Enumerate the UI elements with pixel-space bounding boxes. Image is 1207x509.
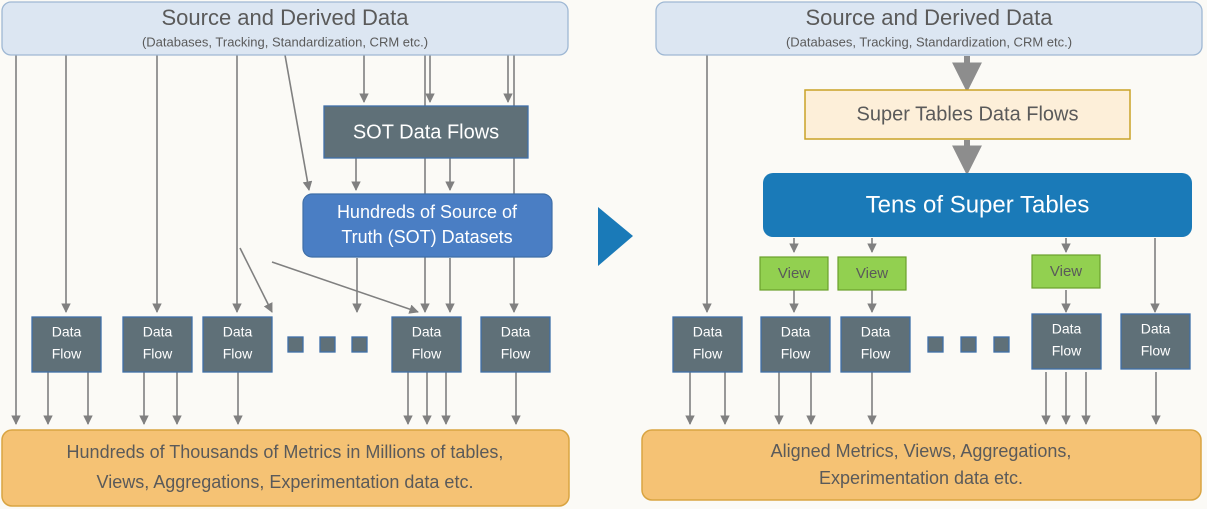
data-flow-box: Data Flow bbox=[392, 317, 461, 372]
left-header-subtitle: (Databases, Tracking, Standardization, C… bbox=[142, 34, 428, 49]
view-box: View bbox=[838, 257, 906, 290]
sot-datasets-box: Hundreds of Source of Truth (SOT) Datase… bbox=[303, 194, 552, 257]
data-flow-box: Data Flow bbox=[1032, 314, 1101, 369]
left-bottom-line2: Views, Aggregations, Experimentation dat… bbox=[97, 472, 474, 492]
data-flow-box: Data Flow bbox=[32, 317, 101, 372]
left-header-box: Source and Derived Data (Databases, Trac… bbox=[2, 2, 568, 55]
ellipsis-dot bbox=[961, 337, 976, 352]
data-flow-box: Data Flow bbox=[673, 317, 742, 372]
data-flow-line1: Data bbox=[501, 324, 531, 340]
right-ellipsis-dots bbox=[928, 337, 1009, 352]
left-bottom-box: Hundreds of Thousands of Metrics in Mill… bbox=[2, 430, 569, 506]
sot-data-flows-label: SOT Data Flows bbox=[353, 121, 499, 143]
data-flow-box: Data Flow bbox=[841, 317, 910, 372]
data-flow-box: Data Flow bbox=[761, 317, 830, 372]
left-ellipsis-dots bbox=[288, 337, 367, 352]
data-flow-line2: Flow bbox=[1141, 343, 1171, 359]
tens-of-super-tables-label: Tens of Super Tables bbox=[866, 191, 1090, 218]
data-flow-line2: Flow bbox=[693, 346, 723, 362]
data-flow-line2: Flow bbox=[223, 346, 253, 362]
right-bottom-box: Aligned Metrics, Views, Aggregations, Ex… bbox=[642, 430, 1201, 500]
sot-data-flows-box: SOT Data Flows bbox=[324, 106, 528, 158]
ellipsis-dot bbox=[288, 337, 303, 352]
data-flow-line2: Flow bbox=[52, 346, 82, 362]
tens-of-super-tables-box: Tens of Super Tables bbox=[763, 173, 1192, 237]
view-label: View bbox=[778, 265, 810, 282]
view-label: View bbox=[856, 265, 888, 282]
data-flow-line1: Data bbox=[861, 324, 891, 340]
view-label: View bbox=[1050, 263, 1082, 280]
right-bottom-line2: Experimentation data etc. bbox=[819, 468, 1023, 488]
right-header-subtitle: (Databases, Tracking, Standardization, C… bbox=[786, 34, 1072, 49]
data-flow-line1: Data bbox=[412, 324, 442, 340]
data-flow-line1: Data bbox=[693, 324, 723, 340]
data-flow-line1: Data bbox=[781, 324, 811, 340]
right-header-box: Source and Derived Data (Databases, Trac… bbox=[656, 2, 1202, 55]
architecture-diagram: Source and Derived Data (Databases, Trac… bbox=[0, 0, 1207, 509]
data-flow-box: Data Flow bbox=[481, 317, 550, 372]
ellipsis-dot bbox=[928, 337, 943, 352]
data-flow-line1: Data bbox=[223, 324, 253, 340]
data-flow-line2: Flow bbox=[781, 346, 811, 362]
data-flow-line2: Flow bbox=[143, 346, 173, 362]
data-flow-line2: Flow bbox=[861, 346, 891, 362]
data-flow-box: Data Flow bbox=[1121, 314, 1190, 369]
data-flow-box: Data Flow bbox=[203, 317, 272, 372]
diagram-canvas: Source and Derived Data (Databases, Trac… bbox=[0, 0, 1207, 509]
data-flow-line1: Data bbox=[52, 324, 82, 340]
sot-datasets-line2: Truth (SOT) Datasets bbox=[341, 227, 512, 247]
super-tables-data-flows-box: Super Tables Data Flows bbox=[805, 90, 1130, 139]
ellipsis-dot bbox=[994, 337, 1009, 352]
data-flow-line1: Data bbox=[143, 324, 173, 340]
sot-datasets-line1: Hundreds of Source of bbox=[337, 202, 518, 222]
data-flow-line2: Flow bbox=[412, 346, 442, 362]
data-flow-line1: Data bbox=[1052, 321, 1082, 337]
left-header-title: Source and Derived Data bbox=[161, 5, 409, 30]
data-flow-box: Data Flow bbox=[123, 317, 192, 372]
view-box: View bbox=[760, 257, 828, 290]
data-flow-line2: Flow bbox=[1052, 343, 1082, 359]
ellipsis-dot bbox=[320, 337, 335, 352]
super-tables-data-flows-label: Super Tables Data Flows bbox=[857, 103, 1079, 125]
ellipsis-dot bbox=[352, 337, 367, 352]
data-flow-line1: Data bbox=[1141, 321, 1171, 337]
left-bottom-line1: Hundreds of Thousands of Metrics in Mill… bbox=[67, 442, 504, 462]
right-bottom-line1: Aligned Metrics, Views, Aggregations, bbox=[771, 441, 1072, 461]
view-box: View bbox=[1032, 255, 1100, 288]
right-header-title: Source and Derived Data bbox=[805, 5, 1053, 30]
data-flow-line2: Flow bbox=[501, 346, 531, 362]
